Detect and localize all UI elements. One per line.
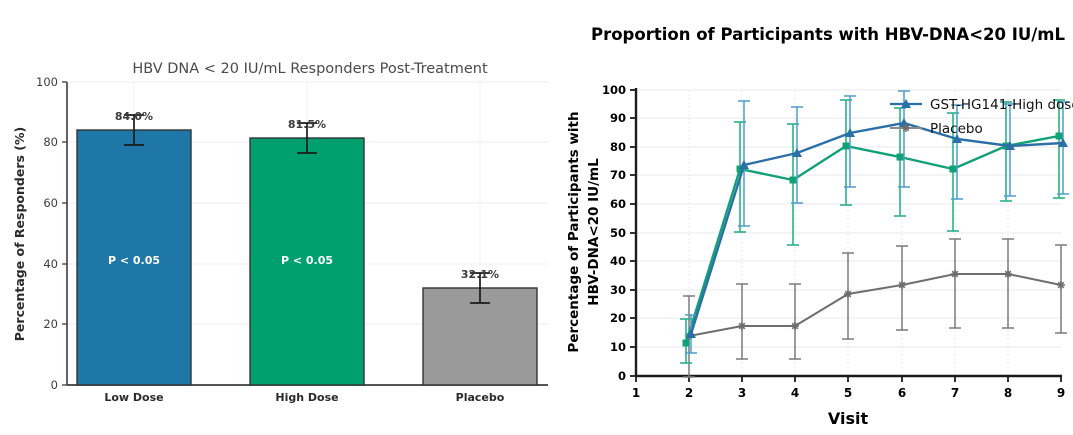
legend-star-icon [902, 124, 910, 132]
line-y-tick-100: 100 [602, 83, 626, 97]
line-y-tick-10: 10 [610, 340, 626, 354]
line-x-tick-4: 4 [791, 386, 799, 400]
series-blue-line[interactable] [691, 123, 1063, 334]
figure-root: HBV DNA < 20 IU/mL Responders Post-Treat… [0, 0, 1073, 435]
line-chart-y-axis-label-line1: Percentage of Participants with [566, 111, 582, 352]
bar-y-tick-40: 40 [43, 257, 58, 271]
bar-x-tick-low-dose: Low Dose [104, 391, 163, 404]
bar-chart-y-axis-label: Percentage of Responders (%) [12, 127, 27, 341]
line-chart-x-axis-label: Visit [828, 409, 869, 428]
bar-x-tick-high-dose: High Dose [275, 391, 338, 404]
bar-chart-y-tick-labels: 0 20 40 60 80 100 [36, 75, 58, 392]
line-y-tick-50: 50 [610, 226, 626, 240]
legend-label-high-dose[interactable]: GST-HG141-High dose [930, 97, 1073, 113]
bar-chart-svg: HBV DNA < 20 IU/mL Responders Post-Treat… [0, 0, 560, 435]
bar-pvalue-low-dose: P < 0.05 [108, 254, 160, 267]
bar-x-tick-placebo: Placebo [456, 391, 505, 404]
bar-value-label-high-dose: 81.5% [288, 118, 326, 131]
line-y-tick-90: 90 [610, 111, 626, 125]
line-chart-panel: Proportion of Participants with HBV-DNA<… [560, 0, 1073, 435]
line-chart-legend: GST-HG141-High dose Placebo [890, 97, 1073, 137]
bar-y-tick-60: 60 [43, 196, 58, 210]
bar-chart-x-tick-labels: Low Dose High Dose Placebo [104, 391, 504, 404]
line-chart-y-tick-labels: 0 10 20 30 40 50 60 70 80 90 100 [602, 83, 626, 383]
line-y-tick-20: 20 [610, 311, 626, 325]
line-y-tick-70: 70 [610, 168, 626, 182]
line-x-tick-9: 9 [1057, 386, 1065, 400]
line-y-tick-30: 30 [610, 283, 626, 297]
line-x-tick-2: 2 [685, 386, 693, 400]
line-x-tick-5: 5 [844, 386, 852, 400]
line-y-tick-80: 80 [610, 140, 626, 154]
bar-chart-title: HBV DNA < 20 IU/mL Responders Post-Treat… [132, 61, 488, 77]
line-chart-title: Proportion of Participants with HBV-DNA<… [591, 25, 1065, 44]
bar-chart-panel: HBV DNA < 20 IU/mL Responders Post-Treat… [0, 0, 560, 435]
legend-label-placebo[interactable]: Placebo [930, 121, 983, 137]
line-x-tick-7: 7 [951, 386, 959, 400]
line-y-tick-40: 40 [610, 254, 626, 268]
line-chart-svg: Proportion of Participants with HBV-DNA<… [560, 0, 1073, 435]
series-placebo-errorbars [683, 239, 1067, 377]
bar-y-tick-80: 80 [43, 135, 58, 149]
bar-value-label-placebo: 32.1% [461, 268, 499, 281]
line-x-tick-6: 6 [898, 386, 906, 400]
bar-y-tick-20: 20 [43, 317, 58, 331]
bar-pvalue-high-dose: P < 0.05 [281, 254, 333, 267]
line-y-tick-0: 0 [618, 369, 626, 383]
bar-y-tick-100: 100 [36, 75, 58, 89]
bar-y-tick-0: 0 [51, 378, 58, 392]
bar-value-label-low-dose: 84.0% [115, 110, 153, 123]
line-x-tick-8: 8 [1004, 386, 1012, 400]
line-chart-x-tick-labels: 1 2 3 4 5 6 7 8 9 [632, 386, 1065, 400]
line-y-tick-60: 60 [610, 197, 626, 211]
line-chart-y-axis-label-line2: HBV-DNA<20 IU/mL [586, 158, 602, 306]
line-x-tick-1: 1 [632, 386, 640, 400]
line-x-tick-3: 3 [738, 386, 746, 400]
